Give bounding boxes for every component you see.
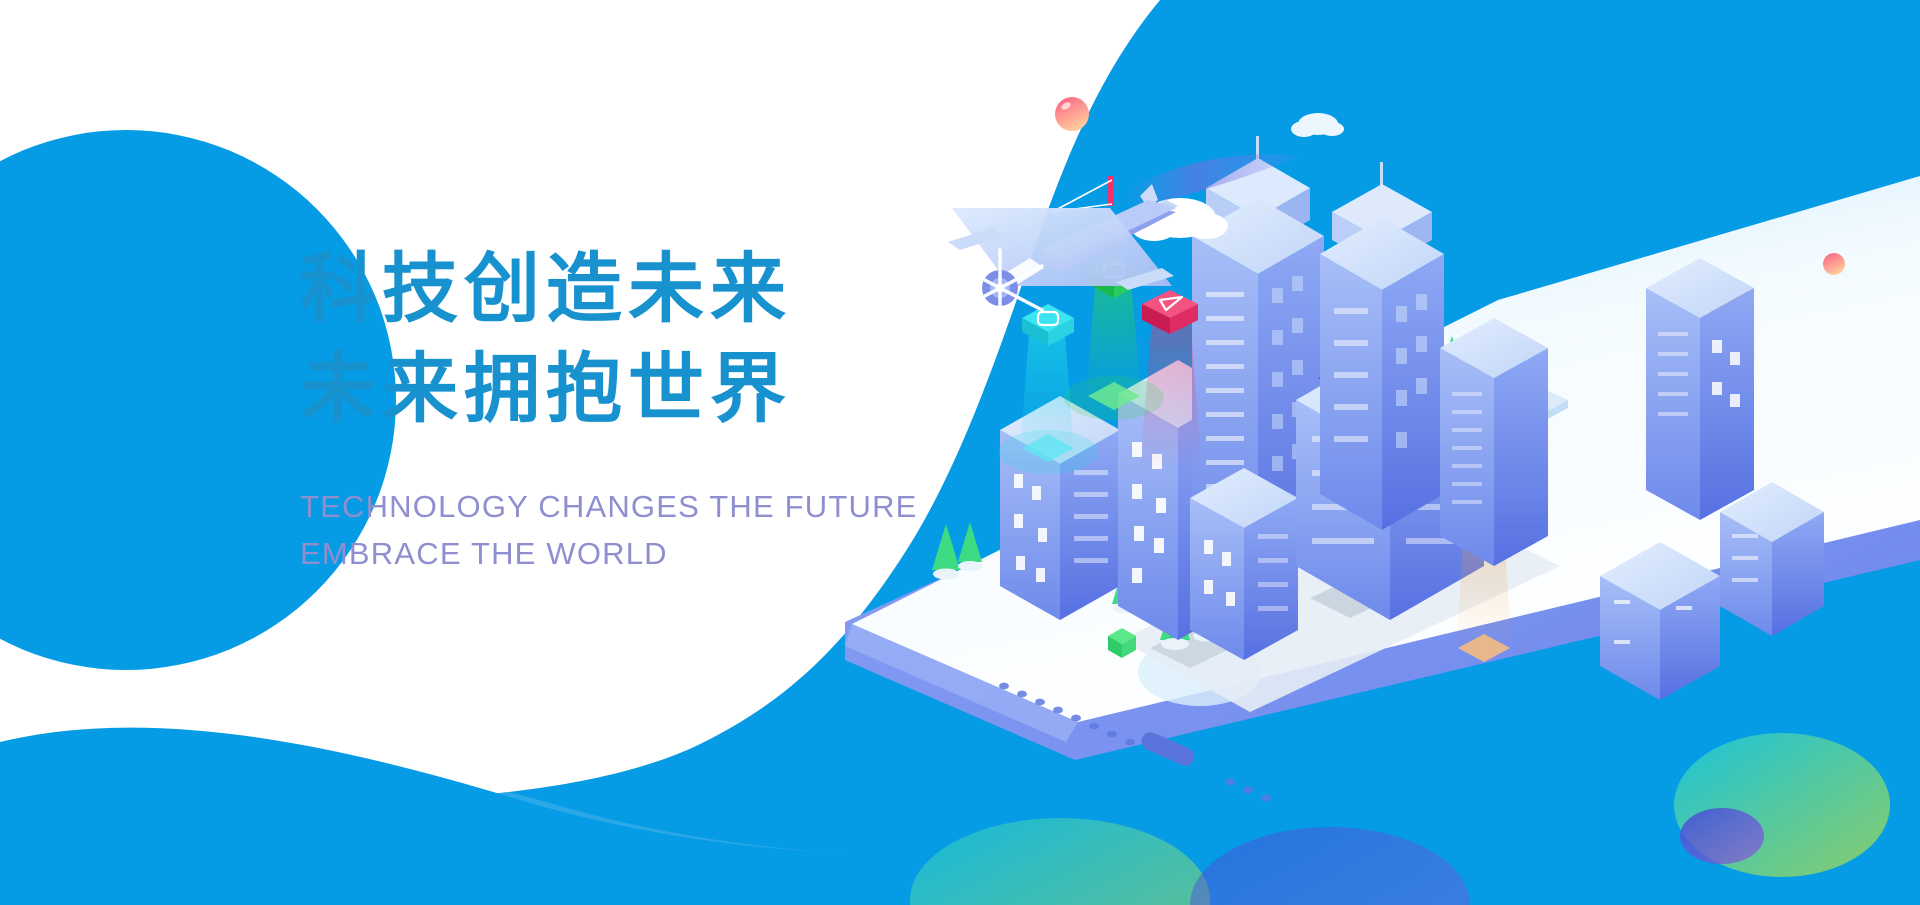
headline-line-1: 科技创造未来 <box>300 240 1060 340</box>
building-tower-4 <box>1190 468 1298 660</box>
building-block-right-2 <box>1720 482 1824 636</box>
balloon-right <box>1823 253 1845 275</box>
glow-green-base <box>1064 376 1164 420</box>
hero-banner: 科技创造未来 未来拥抱世界 TECHNOLOGY CHANGES THE FUT… <box>0 0 1920 905</box>
balloon-top <box>1055 97 1089 131</box>
kite-strings <box>1052 180 1112 212</box>
marker-pink-group <box>1140 290 1202 470</box>
subtitle-block: TECHNOLOGY CHANGES THE FUTURE EMBRACE TH… <box>300 483 1060 577</box>
building-tower-6 <box>1320 162 1444 530</box>
subtitle-line-1: TECHNOLOGY CHANGES THE FUTURE <box>300 483 1060 530</box>
building-tower-7 <box>1440 318 1548 566</box>
building-tower-8 <box>1646 258 1754 520</box>
text-block: 科技创造未来 未来拥抱世界 TECHNOLOGY CHANGES THE FUT… <box>300 240 1060 577</box>
subtitle-line-2: EMBRACE THE WORLD <box>300 530 1060 577</box>
cloud-small <box>1291 113 1344 137</box>
phone-speaker-holes-right <box>1225 779 1271 802</box>
headline-line-2: 未来拥抱世界 <box>300 340 1060 440</box>
